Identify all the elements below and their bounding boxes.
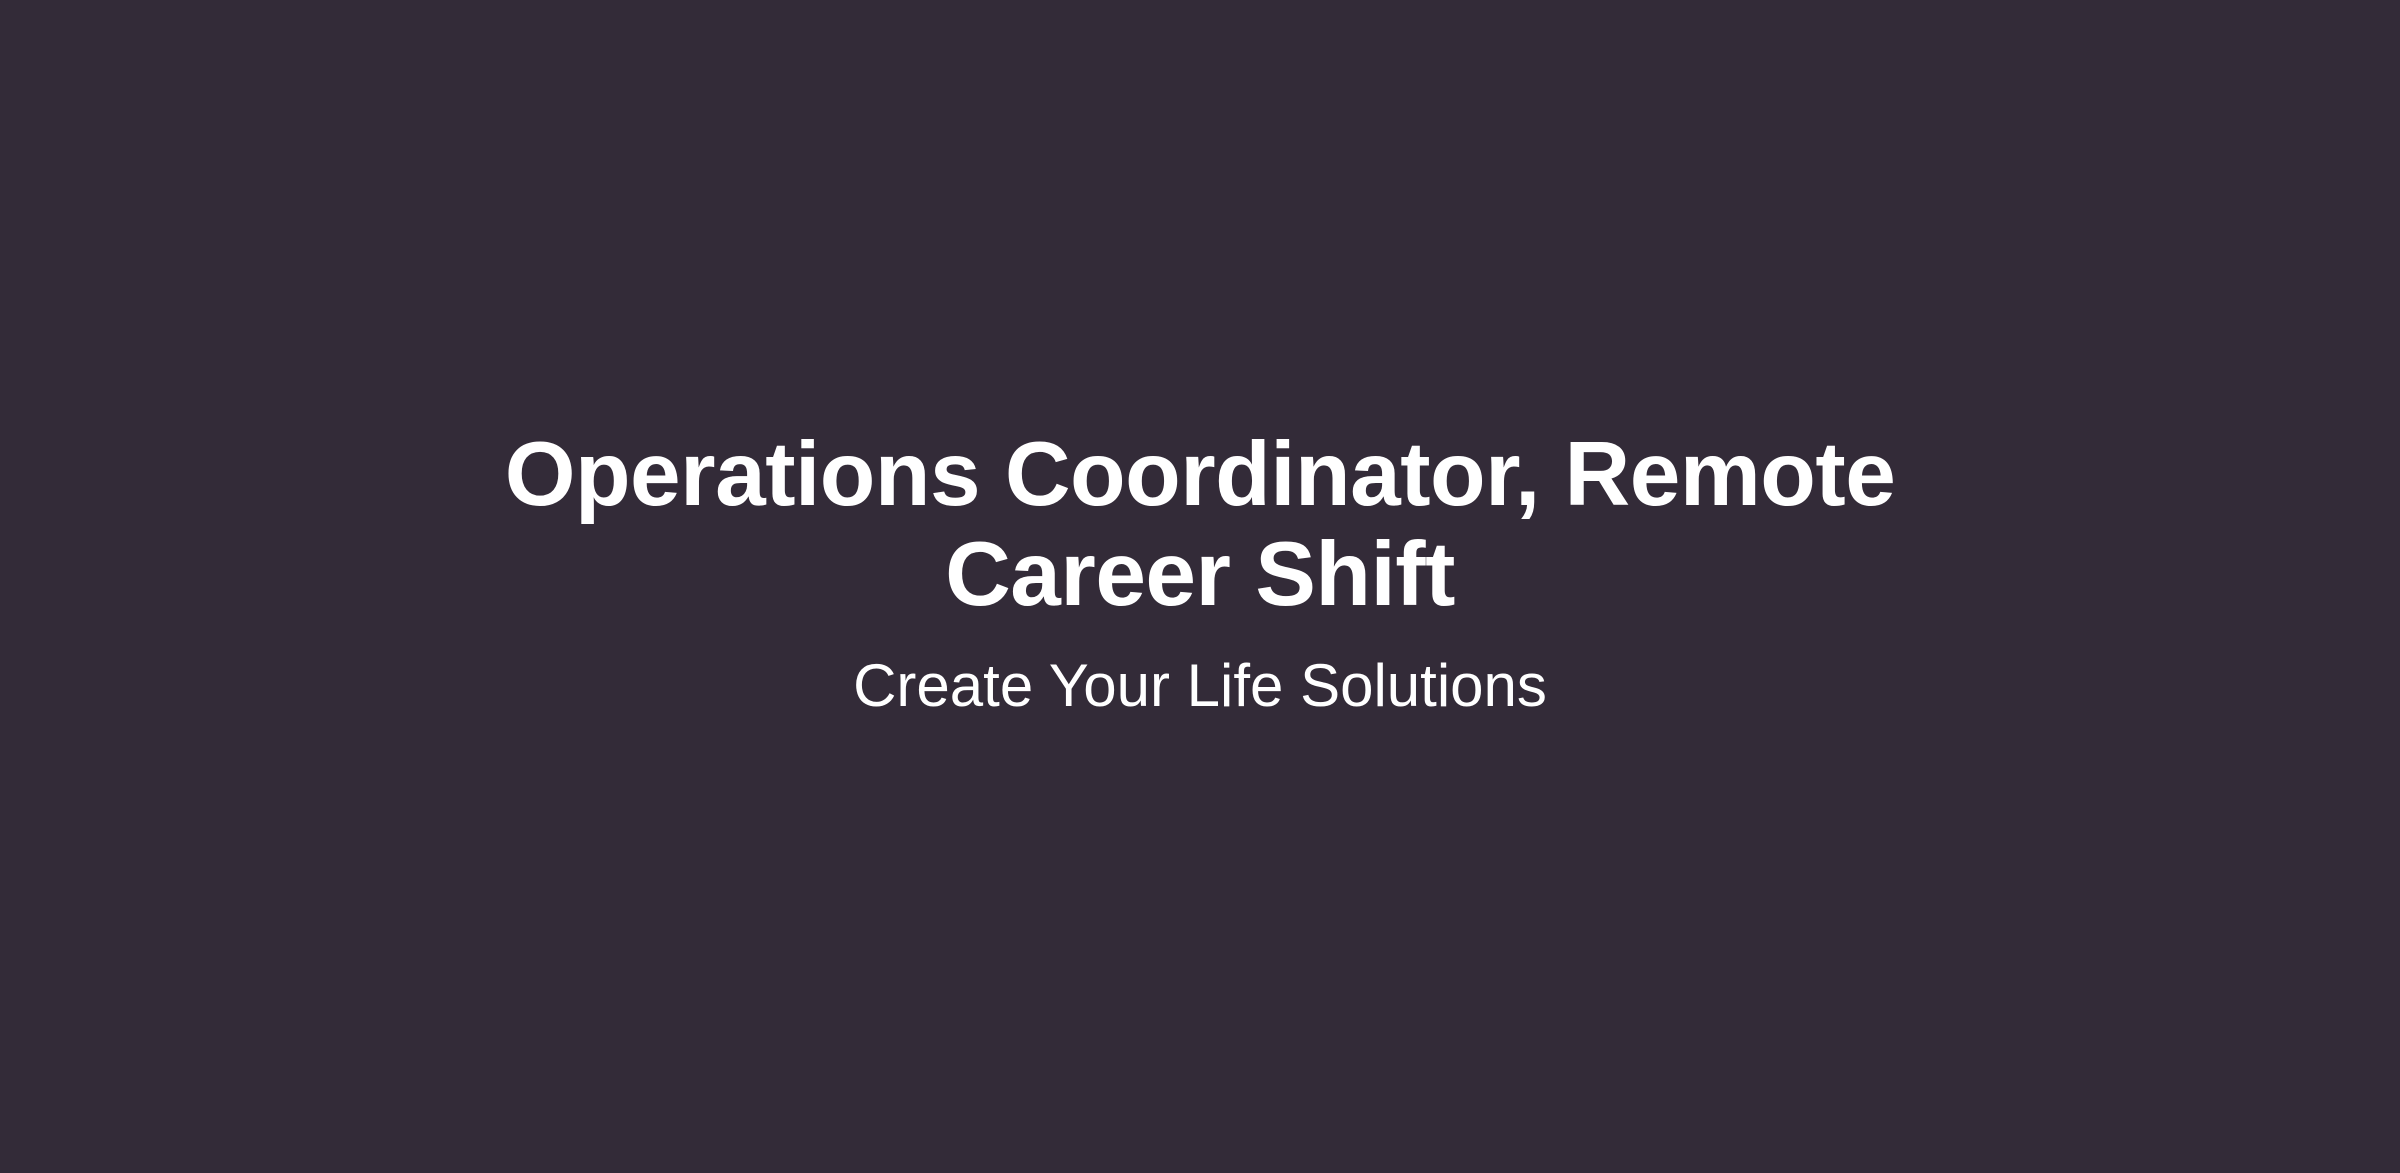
page-subtitle: Create Your Life Solutions (853, 651, 1547, 720)
title-card: Operations Coordinator, Remote Career Sh… (0, 0, 2400, 1173)
page-title: Operations Coordinator, Remote Career Sh… (490, 425, 1910, 625)
hero-text-block: Operations Coordinator, Remote Career Sh… (0, 425, 2400, 720)
